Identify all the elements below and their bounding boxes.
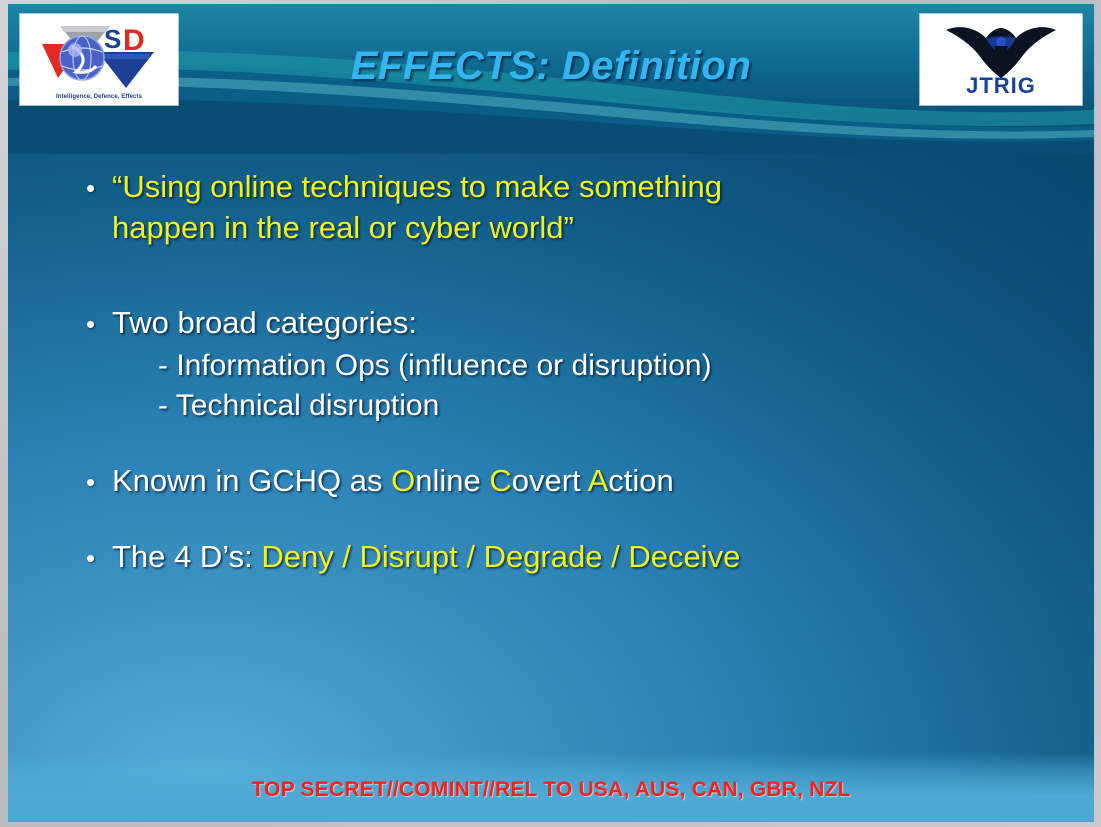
bullet-dot-icon: •: [86, 536, 112, 580]
bullet-item-quote: • “Using online techniques to make somet…: [86, 166, 1016, 248]
slide-body: • “Using online techniques to make somet…: [86, 166, 1016, 580]
bullet-line: “Using online techniques to make somethi…: [112, 169, 722, 204]
bullet-dot-icon: •: [86, 166, 112, 210]
segment-highlight-a: A: [588, 463, 609, 498]
bullet-text: Two broad categories:: [112, 302, 417, 343]
bullet-text: The 4 D’s: Deny / Disrupt / Degrade / De…: [112, 536, 740, 577]
segment: The 4 D’s:: [112, 539, 261, 574]
bullet-dot-icon: •: [86, 460, 112, 504]
segment-four-ds-list: Deny / Disrupt / Degrade / Deceive: [261, 539, 740, 574]
segment-highlight-c: C: [489, 463, 511, 498]
bullet-item-categories: • Two broad categories: - Information Op…: [86, 302, 1016, 426]
spacer: [86, 504, 1016, 536]
spacer: [86, 426, 1016, 460]
bullet-item-oca: • Known in GCHQ as Online Covert Action: [86, 460, 1016, 504]
segment: nline: [415, 463, 489, 498]
slide-canvas: S D Intelligence, Defence, Effects JTRIG…: [8, 4, 1094, 822]
sd-logo-caption: Intelligence, Defence, Effects: [20, 94, 178, 100]
segment: ction: [608, 463, 673, 498]
segment-highlight-o: O: [391, 463, 415, 498]
sub-bullet-information-ops: - Information Ops (influence or disrupti…: [158, 346, 1016, 386]
segment: overt: [512, 463, 588, 498]
presentation-slide: S D Intelligence, Defence, Effects JTRIG…: [0, 0, 1101, 827]
segment: Known in GCHQ as: [112, 463, 391, 498]
bullet-text: “Using online techniques to make somethi…: [112, 166, 722, 248]
bullet-item-four-ds: • The 4 D’s: Deny / Disrupt / Degrade / …: [86, 536, 1016, 580]
bullet-dot-icon: •: [86, 302, 112, 346]
spacer: [86, 248, 1016, 302]
bullet-text: Known in GCHQ as Online Covert Action: [112, 460, 674, 501]
bullet-line: happen in the real or cyber world”: [112, 210, 574, 245]
page-title: EFFECTS: Definition: [8, 44, 1094, 89]
sub-bullet-technical-disruption: - Technical disruption: [158, 386, 1016, 426]
classification-banner: TOP SECRET//COMINT//REL TO USA, AUS, CAN…: [8, 778, 1094, 802]
